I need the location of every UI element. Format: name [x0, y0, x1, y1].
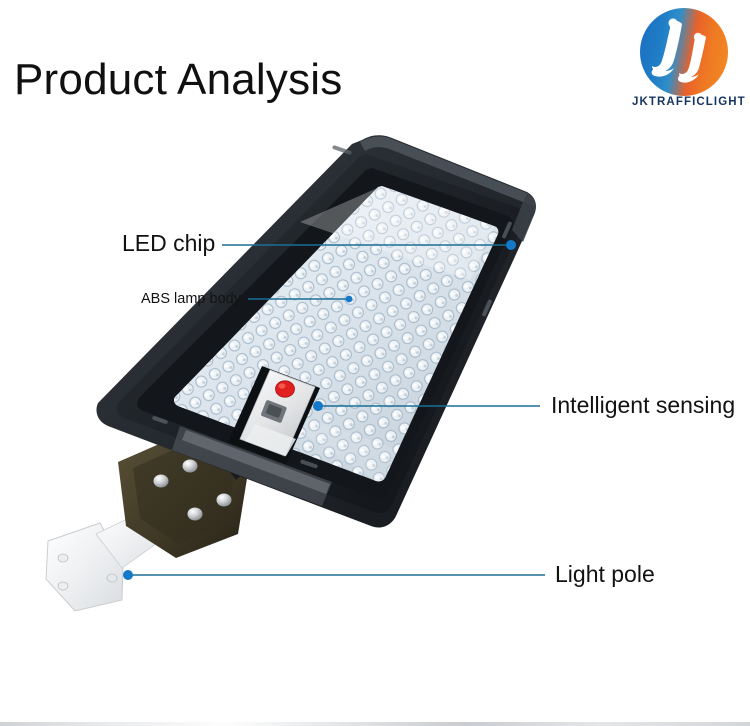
callout-label-intelligent-sensing: Intelligent sensing — [551, 392, 735, 419]
sensor-red-button — [276, 381, 295, 397]
page-title: Product Analysis — [14, 55, 342, 105]
callout-label-light-pole: Light pole — [555, 561, 655, 588]
jj-circle-logo-icon — [640, 8, 728, 96]
product-analysis-page: Product Analysis JKTRAFFICLIGHT — [0, 0, 750, 726]
callout-label-abs-lamp-body: ABS lamp body — [141, 291, 241, 307]
product-image — [0, 130, 750, 630]
bottom-edge-line — [0, 722, 750, 726]
brand-name: JKTRAFFICLIGHT — [632, 96, 744, 108]
callout-label-led-chip: LED chip — [122, 230, 215, 257]
brand-logo: JKTRAFFICLIGHT — [632, 8, 744, 108]
